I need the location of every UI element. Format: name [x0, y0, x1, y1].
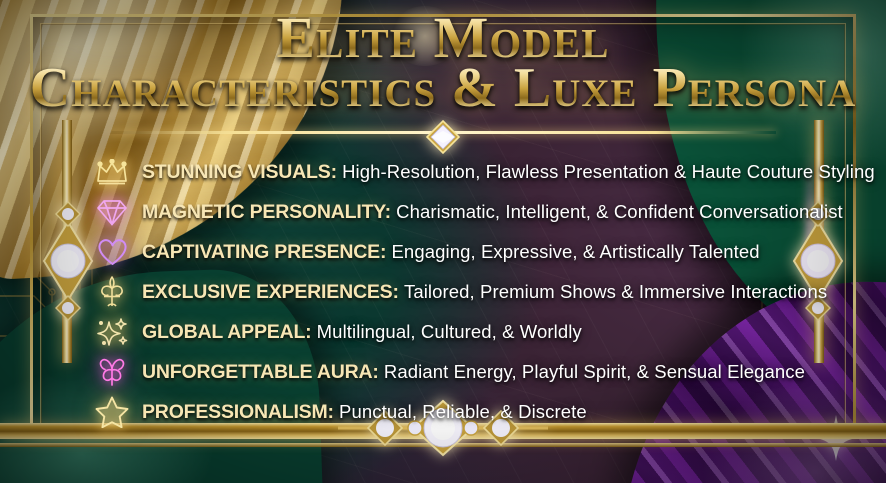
title-line-2: Characteristics & Luxe Persona [0, 62, 886, 116]
feature-row-global-appeal: GLOBAL APPEAL: Multilingual, Cultured, &… [92, 312, 822, 352]
feature-text: STUNNING VISUALS: High-Resolution, Flawl… [142, 161, 875, 184]
feature-label: CAPTIVATING PRESENCE: [142, 241, 391, 263]
feature-row-exclusive-experiences: EXCLUSIVE EXPERIENCES: Tailored, Premium… [92, 272, 822, 312]
feature-label: GLOBAL APPEAL: [142, 321, 317, 343]
feature-description: Charismatic, Intelligent, & Confident Co… [396, 201, 843, 222]
feature-description: Multilingual, Cultured, & Worldly [317, 321, 582, 342]
feature-row-captivating-presence: CAPTIVATING PRESENCE: Engaging, Expressi… [92, 232, 822, 272]
feature-label: UNFORGETTABLE AURA: [142, 361, 384, 383]
feature-text: MAGNETIC PERSONALITY: Charismatic, Intel… [142, 201, 843, 224]
feature-label: STUNNING VISUALS: [142, 161, 342, 183]
star-icon [92, 395, 132, 429]
feature-description: Engaging, Expressive, & Artistically Tal… [391, 241, 759, 262]
fleur-de-lis-icon [92, 275, 132, 309]
feature-text: GLOBAL APPEAL: Multilingual, Cultured, &… [142, 321, 582, 344]
feature-row-stunning-visuals: STUNNING VISUALS: High-Resolution, Flawl… [92, 152, 822, 192]
feature-description: High-Resolution, Flawless Presentation &… [342, 161, 875, 182]
butterfly-icon [92, 355, 132, 389]
feature-description: Radiant Energy, Playful Spirit, & Sensua… [384, 361, 805, 382]
feature-description: Punctual, Reliable, & Discrete [339, 401, 587, 422]
diamond-icon [92, 195, 132, 229]
feature-row-unforgettable-aura: UNFORGETTABLE AURA: Radiant Energy, Play… [92, 352, 822, 392]
feature-description: Tailored, Premium Shows & Immersive Inte… [404, 281, 827, 302]
feature-text: PROFESSIONALISM: Punctual, Reliable, & D… [142, 401, 587, 424]
feature-row-professionalism: PROFESSIONALISM: Punctual, Reliable, & D… [92, 392, 822, 432]
sparkle-icon [92, 315, 132, 349]
crown-icon [92, 155, 132, 189]
feature-text: UNFORGETTABLE AURA: Radiant Energy, Play… [142, 361, 805, 384]
poster-canvas: Elite Model Characteristics & Luxe Perso… [0, 0, 886, 483]
feature-text: CAPTIVATING PRESENCE: Engaging, Expressi… [142, 241, 760, 264]
heart-icon [92, 235, 132, 269]
page-title: Elite Model Characteristics & Luxe Perso… [0, 10, 886, 115]
feature-text: EXCLUSIVE EXPERIENCES: Tailored, Premium… [142, 281, 827, 304]
feature-label: PROFESSIONALISM: [142, 401, 339, 423]
feature-label: MAGNETIC PERSONALITY: [142, 201, 396, 223]
feature-label: EXCLUSIVE EXPERIENCES: [142, 281, 404, 303]
feature-list: STUNNING VISUALS: High-Resolution, Flawl… [92, 152, 822, 432]
feature-row-magnetic-personality: MAGNETIC PERSONALITY: Charismatic, Intel… [92, 192, 822, 232]
